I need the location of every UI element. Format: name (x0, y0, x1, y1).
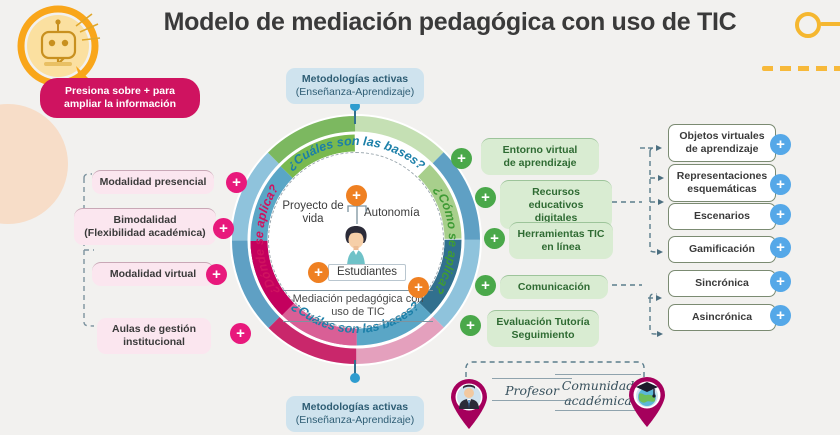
right-item-3[interactable]: Comunicación (500, 275, 608, 299)
core-label-estudiantes: Estudiantes (328, 264, 406, 281)
left-item-3[interactable]: Aulas de gestión institucional (97, 318, 211, 354)
decorative-orange-ring-icon (795, 12, 821, 38)
far-right-item-1-subtitle: esquemáticas (675, 183, 769, 196)
decorative-dashed-line (762, 66, 840, 71)
plus-button-far-right-0[interactable]: + (770, 134, 791, 155)
right-item-0-title: Entorno virtual (487, 144, 593, 157)
plus-button-left-0[interactable]: + (226, 172, 247, 193)
node-top-metodologias[interactable]: Metodologías activas (Enseñanza-Aprendiz… (286, 68, 424, 104)
plus-button-right-1[interactable]: + (475, 187, 496, 208)
pin-label-academica: académica (564, 393, 632, 408)
plus-button-far-right-1[interactable]: + (770, 174, 791, 195)
pin-label-comunidad: Comunidad (562, 378, 635, 393)
plus-button-right-2[interactable]: + (484, 228, 505, 249)
right-item-2-subtitle: en línea (515, 241, 607, 254)
pin-label-comunidad-rule (555, 374, 641, 375)
student-avatar-icon (339, 224, 373, 268)
plus-button-core-left[interactable]: + (308, 262, 329, 283)
node-bottom-metodologias[interactable]: Metodologías activas (Enseñanza-Aprendiz… (286, 396, 424, 432)
far-right-item-0-subtitle: de aprendizaje (675, 143, 769, 156)
far-right-item-1-title: Representaciones (675, 170, 769, 183)
plus-button-right-0[interactable]: + (451, 148, 472, 169)
plus-button-right-3[interactable]: + (475, 275, 496, 296)
globe-graduate-pin-icon[interactable] (626, 376, 668, 428)
right-item-0-subtitle: de aprendizaje (487, 157, 593, 170)
plus-button-left-1[interactable]: + (213, 218, 234, 239)
far-right-item-4-title: Sincrónica (675, 277, 769, 290)
bottom-node-connector (346, 360, 364, 386)
central-wheel: ¿Cuáles son las bases? ¿Cuáles son las b… (228, 112, 484, 368)
far-right-item-0[interactable]: Objetos virtuales de aprendizaje (668, 124, 776, 162)
right-item-2-title: Herramientas TIC (515, 228, 607, 241)
plus-button-left-2[interactable]: + (206, 264, 227, 285)
plus-button-core-top[interactable]: + (346, 185, 367, 206)
plus-button-far-right-5[interactable]: + (770, 305, 791, 326)
plus-button-far-right-3[interactable]: + (770, 237, 791, 258)
node-top-subtitle: (Enseñanza-Aprendizaje) (292, 86, 418, 99)
far-right-item-5-title: Asincrónica (675, 311, 769, 324)
left-item-1-title: Bimodalidad (80, 214, 210, 227)
far-right-item-3-title: Gamificación (675, 243, 769, 256)
infographic-canvas: Modelo de mediación pedagógica con uso d… (0, 0, 840, 430)
far-right-item-2[interactable]: Escenarios (668, 203, 776, 230)
left-item-1-subtitle: (Flexibilidad académica) (80, 227, 210, 240)
left-item-2-title: Modalidad virtual (98, 268, 208, 281)
node-top-title: Metodologías activas (292, 73, 418, 86)
node-bottom-subtitle: (Enseñanza-Aprendizaje) (292, 414, 418, 427)
left-bracket (70, 172, 100, 332)
left-item-3-subtitle: institucional (103, 336, 205, 349)
right-item-3-title: Comunicación (506, 281, 602, 294)
right-item-4-title: Evaluación Tutoría (493, 316, 593, 329)
far-right-item-3[interactable]: Gamificación (668, 236, 776, 263)
far-right-item-1[interactable]: Representaciones esquemáticas (668, 164, 776, 202)
plus-button-right-4[interactable]: + (460, 315, 481, 336)
far-right-item-2-title: Escenarios (675, 210, 769, 223)
left-item-0[interactable]: Modalidad presencial (92, 170, 214, 194)
far-right-item-4[interactable]: Sincrónica (668, 270, 776, 297)
plus-button-far-right-2[interactable]: + (770, 204, 791, 225)
left-item-2[interactable]: Modalidad virtual (92, 262, 214, 286)
far-right-item-0-title: Objetos virtuales (675, 130, 769, 143)
left-item-3-title: Aulas de gestión (103, 323, 205, 336)
page-title: Modelo de mediación pedagógica con uso d… (150, 8, 750, 37)
teacher-pin-icon[interactable] (448, 378, 490, 430)
plus-button-far-right-4[interactable]: + (770, 271, 791, 292)
decorative-orange-stem (820, 22, 840, 26)
hint-pill: Presiona sobre + para ampliar la informa… (40, 78, 200, 118)
left-item-1[interactable]: Bimodalidad (Flexibilidad académica) (74, 208, 216, 245)
right-item-0[interactable]: Entorno virtual de aprendizaje (481, 138, 599, 175)
left-item-0-title: Modalidad presencial (98, 176, 208, 189)
right-item-4-subtitle: Seguimiento (493, 329, 593, 342)
plus-button-core-bottom-right[interactable]: + (408, 277, 429, 298)
decorative-peach-circle (0, 104, 68, 224)
node-bottom-title: Metodologías activas (292, 401, 418, 414)
right-item-4[interactable]: Evaluación Tutoría Seguimiento (487, 310, 599, 347)
right-item-1-title: Recursos educativos (506, 186, 606, 212)
right-item-2[interactable]: Herramientas TIC en línea (509, 222, 613, 259)
plus-button-left-3[interactable]: + (230, 323, 251, 344)
far-right-item-5[interactable]: Asincrónica (668, 304, 776, 331)
